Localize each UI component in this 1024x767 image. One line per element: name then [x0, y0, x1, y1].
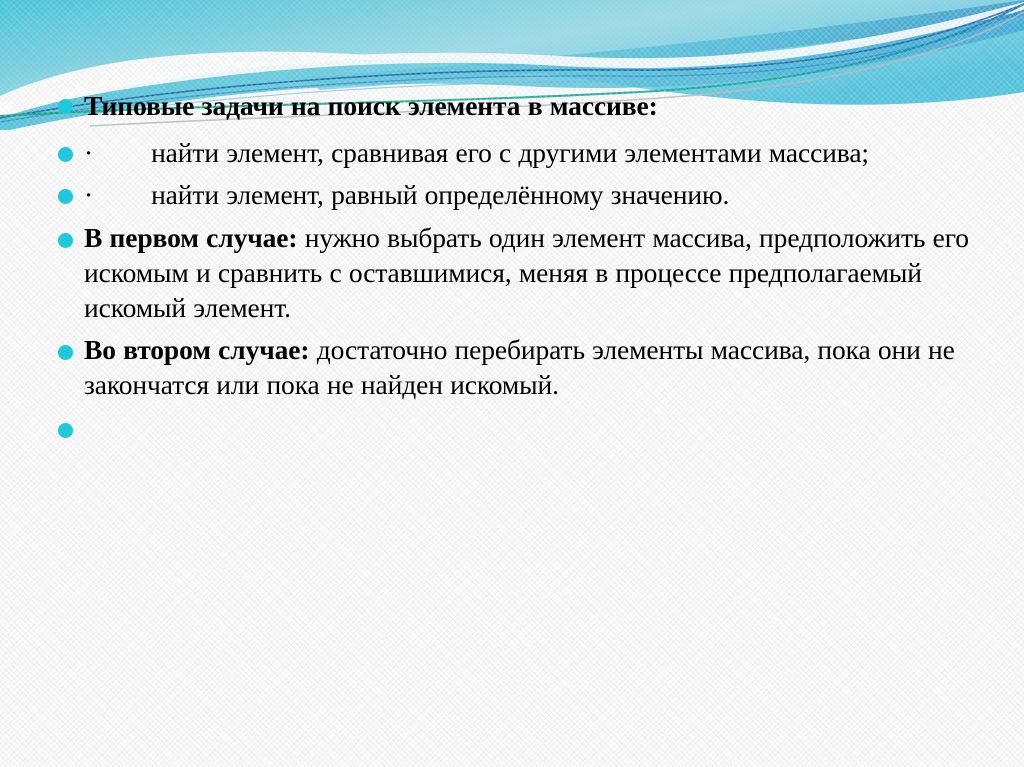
bullet-item-empty	[0, 419, 1024, 438]
sub-item-1-text: найти элемент, сравнивая его с другими э…	[151, 137, 869, 168]
sub-item-2-text: найти элемент, равный определённому знач…	[151, 179, 729, 210]
paragraph-1: В первом случае: нужно выбрать один элем…	[84, 220, 994, 326]
spacer	[0, 403, 1024, 419]
bullet-disc-icon	[58, 189, 73, 204]
paragraph-2: Во втором случае: достаточно перебирать …	[84, 332, 994, 402]
heading-text: Типовые задачи на поиск элемента в масси…	[84, 88, 994, 123]
bullet-item-paragraph-2: Во втором случае: достаточно перебирать …	[0, 332, 1024, 402]
bullet-item-sub-1: ·найти элемент, сравнивая его с другими …	[0, 135, 1024, 170]
sub-item-2-marker: ·	[84, 179, 93, 210]
bullet-disc-icon	[58, 423, 73, 438]
sub-item-1: ·найти элемент, сравнивая его с другими …	[84, 135, 994, 170]
paragraph-1-lead: В первом случае:	[84, 222, 297, 253]
sub-item-1-marker: ·	[84, 137, 93, 168]
presentation-slide: Типовые задачи на поиск элемента в масси…	[0, 0, 1024, 767]
bullet-disc-icon	[58, 147, 73, 162]
slide-content: Типовые задачи на поиск элемента в масси…	[0, 88, 1024, 438]
paragraph-2-lead: Во втором случае:	[84, 334, 309, 365]
bullet-disc-icon	[58, 345, 73, 360]
bullet-item-heading: Типовые задачи на поиск элемента в масси…	[0, 88, 1024, 123]
spacer	[0, 213, 1024, 220]
sub-item-2: ·найти элемент, равный определённому зна…	[84, 177, 994, 212]
bullet-item-sub-2: ·найти элемент, равный определённому зна…	[0, 177, 1024, 212]
spacer	[0, 325, 1024, 332]
bullet-disc-icon	[58, 99, 73, 114]
bullet-item-paragraph-1: В первом случае: нужно выбрать один элем…	[0, 220, 1024, 326]
spacer	[0, 123, 1024, 135]
bullet-disc-icon	[58, 233, 73, 248]
spacer	[0, 170, 1024, 177]
